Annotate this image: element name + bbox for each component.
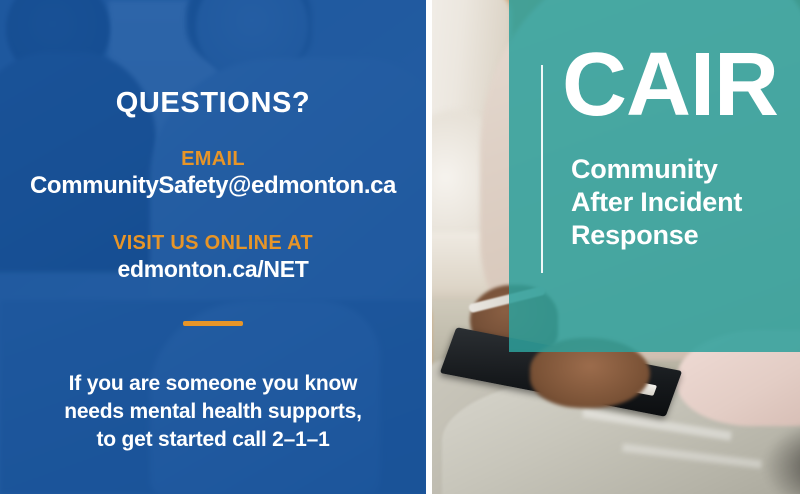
brand-expansion: Community After Incident Response	[571, 153, 742, 252]
orange-divider-rule	[183, 321, 243, 326]
contact-content: QUESTIONS? EMAIL CommunitySafety@edmonto…	[0, 0, 426, 494]
cair-poster: CAIR Community After Incident Response Q…	[0, 0, 800, 494]
brand-expansion-line-2: After Incident	[571, 186, 742, 219]
brand-vertical-rule	[541, 65, 543, 273]
brand-expansion-line-1: Community	[571, 153, 742, 186]
brand-panel: CAIR Community After Incident Response	[509, 0, 800, 352]
brand-acronym: CAIR	[562, 40, 778, 130]
questions-heading: QUESTIONS?	[0, 87, 426, 120]
photo-shadow-edge	[762, 418, 800, 494]
email-address[interactable]: CommunitySafety@edmonton.ca	[0, 172, 426, 200]
cta-line-3: to get started call 2–1–1	[0, 426, 426, 454]
website-label: VISIT US ONLINE AT	[0, 232, 426, 255]
website-url[interactable]: edmonton.ca/NET	[0, 256, 426, 283]
contact-panel: QUESTIONS? EMAIL CommunitySafety@edmonto…	[0, 0, 426, 494]
cta-line-1: If you are someone you know	[0, 370, 426, 398]
cta-line-2: needs mental health supports,	[0, 398, 426, 426]
brand-expansion-line-3: Response	[571, 219, 742, 252]
call-to-action: If you are someone you know needs mental…	[0, 370, 426, 454]
email-label: EMAIL	[0, 148, 426, 171]
